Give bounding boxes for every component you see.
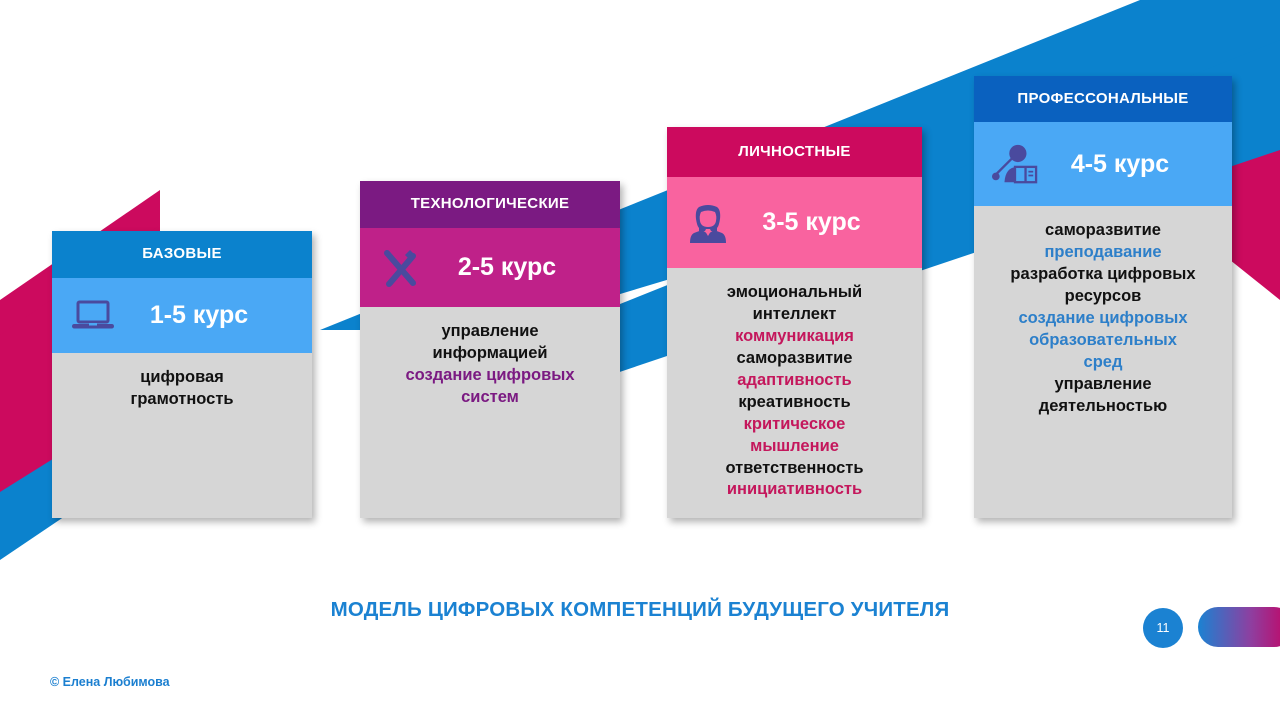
competency-line: деятельностью: [984, 396, 1222, 418]
card-body-professional: саморазвитие преподавание разработка циф…: [974, 206, 1232, 518]
card-band-technological: 2-5 курс: [360, 228, 620, 307]
competency-line: управление: [984, 374, 1222, 396]
competency-line: саморазвитие: [677, 348, 912, 370]
card-header-personal: ЛИЧНОСТНЫЕ: [667, 127, 922, 177]
page-gradient-pill: [1198, 607, 1280, 647]
card-header-basic: БАЗОВЫЕ: [52, 231, 312, 278]
page-number-badge: 11: [1143, 608, 1183, 648]
card-band-basic: 1-5 курс: [52, 278, 312, 353]
card-body-technological: управление информацией создание цифровых…: [360, 307, 620, 518]
competency-line: эмоциональный: [677, 282, 912, 304]
card-body-personal: эмоциональный интеллект коммуникация сам…: [667, 268, 922, 518]
competency-line-accent: образовательных: [984, 330, 1222, 352]
card-header-professional: ПРОФЕССОНАЛЬНЫЕ: [974, 76, 1232, 122]
teacher-icon: [992, 144, 1038, 184]
card-band-professional: 4-5 курс: [974, 122, 1232, 206]
competency-line-accent: мышление: [677, 436, 912, 458]
competency-line: креативность: [677, 392, 912, 414]
competency-line: цифровая: [62, 367, 302, 389]
slide-canvas: БАЗОВЫЕ 1-5 курс цифровая грамотность ТЕ…: [0, 0, 1280, 720]
laptop-icon: [70, 296, 116, 336]
competency-card-basic[interactable]: БАЗОВЫЕ 1-5 курс цифровая грамотность: [52, 231, 312, 518]
card-band-personal: 3-5 курс: [667, 177, 922, 268]
card-header-label: ПРОФЕССОНАЛЬНЫЕ: [1017, 91, 1188, 108]
competency-line-accent: сред: [984, 352, 1222, 374]
competency-card-professional[interactable]: ПРОФЕССОНАЛЬНЫЕ 4-5 курс саморазвитие пр…: [974, 76, 1232, 518]
copyright-notice: © Елена Любимова: [50, 675, 170, 689]
competency-line: ресурсов: [984, 286, 1222, 308]
competency-line: разработка цифровых: [984, 264, 1222, 286]
tools-icon: [378, 248, 424, 288]
competency-line: саморазвитие: [984, 220, 1222, 242]
competency-line-accent: инициативность: [677, 479, 912, 501]
competency-line: интеллект: [677, 304, 912, 326]
competency-line-accent: коммуникация: [677, 326, 912, 348]
card-header-label: ТЕХНОЛОГИЧЕСКИЕ: [411, 196, 570, 213]
competency-line-accent: критическое: [677, 414, 912, 436]
competency-line: ответственность: [677, 458, 912, 480]
competency-line: управление: [370, 321, 610, 343]
competency-line-accent: преподавание: [984, 242, 1222, 264]
card-header-technological: ТЕХНОЛОГИЧЕСКИЕ: [360, 181, 620, 228]
competency-card-technological[interactable]: ТЕХНОЛОГИЧЕСКИЕ 2-5 курс управление ин: [360, 181, 620, 518]
competency-line: грамотность: [62, 389, 302, 411]
card-body-basic: цифровая грамотность: [52, 353, 312, 518]
card-header-label: ЛИЧНОСТНЫЕ: [738, 144, 851, 161]
slide-title: МОДЕЛЬ ЦИФРОВЫХ КОМПЕТЕНЦИЙ БУДУЩЕГО УЧИ…: [0, 598, 1280, 622]
competency-line-accent: создание цифровых: [370, 365, 610, 387]
competency-line-accent: систем: [370, 387, 610, 409]
competency-card-personal[interactable]: ЛИЧНОСТНЫЕ 3-5 курс эмоциональный интелл…: [667, 127, 922, 518]
person-icon: [685, 203, 731, 243]
competency-line: информацией: [370, 343, 610, 365]
card-header-label: БАЗОВЫЕ: [142, 246, 222, 263]
competency-line-accent: адаптивность: [677, 370, 912, 392]
competency-line-accent: создание цифровых: [984, 308, 1222, 330]
